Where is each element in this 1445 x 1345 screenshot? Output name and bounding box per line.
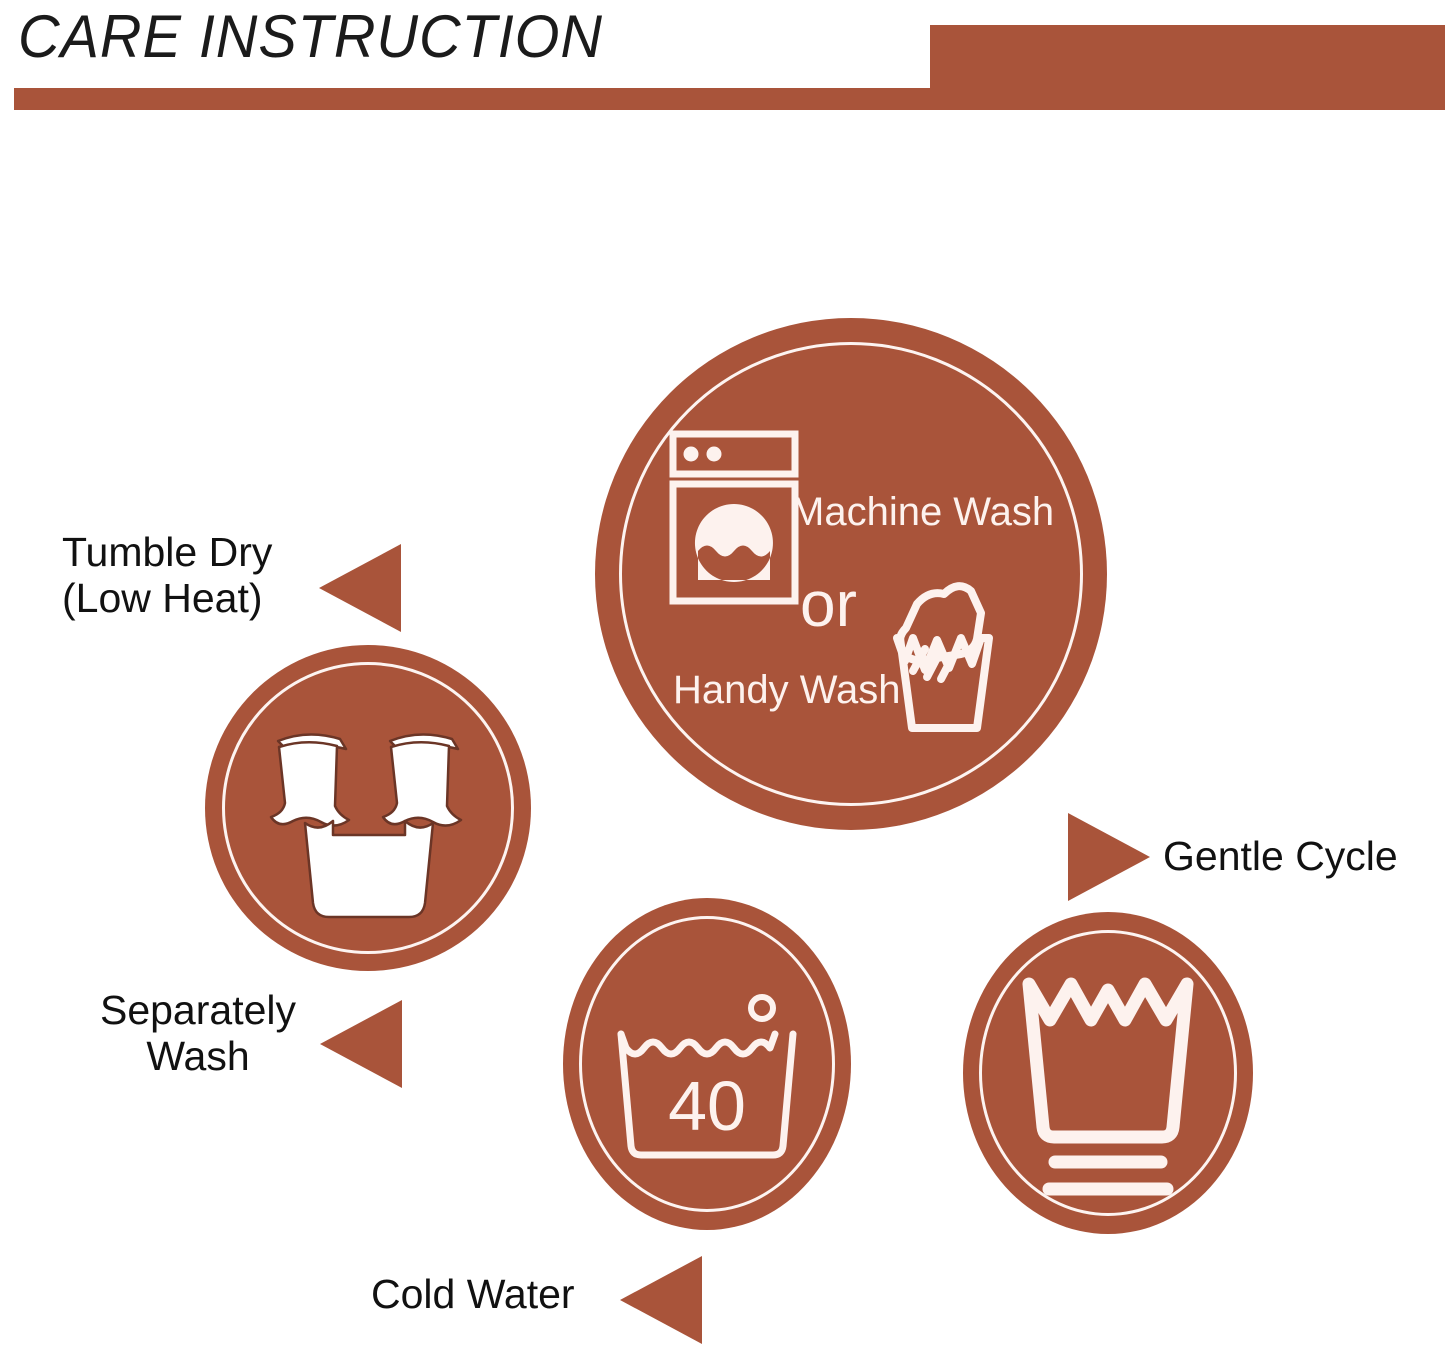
- badge-cold-water: 40: [563, 898, 851, 1230]
- badge-machine-or-handy-wash: Machine Wash or Handy Wash: [595, 318, 1107, 830]
- callout-label-separately-wash: Separately Wash: [78, 988, 318, 1080]
- washing-machine-dial-1: [684, 447, 699, 462]
- wash-tub-temperature-icon: 40: [563, 898, 851, 1230]
- page-title: CARE INSTRUCTION: [18, 2, 603, 71]
- arrow-left-icon-separately-wash: [320, 1000, 402, 1088]
- badge-tumble-dry: [205, 645, 531, 971]
- hand-wash-tub-icon: [897, 586, 989, 728]
- or-label: or: [800, 572, 857, 636]
- callout-label-gentle-cycle: Gentle Cycle: [1163, 834, 1398, 880]
- handy-wash-label: Handy Wash: [673, 670, 901, 710]
- header-accent-block: [930, 25, 1445, 110]
- arrow-left-icon-cold-water: [620, 1256, 702, 1344]
- badge-gentle-cycle: [963, 912, 1253, 1234]
- arrow-right-icon-gentle-cycle: [1068, 813, 1150, 901]
- washing-machine-drum: [695, 504, 773, 582]
- callout-label-tumble-dry: Tumble Dry (Low Heat): [62, 530, 272, 622]
- tumble-dry-icon: [205, 645, 531, 971]
- machine-wash-label: Machine Wash: [791, 492, 1054, 532]
- washing-machine-dial-2: [707, 447, 722, 462]
- gentle-cycle-tub-icon: [963, 912, 1253, 1234]
- arrow-left-icon-tumble-dry: [319, 544, 401, 632]
- care-instruction-infographic: CARE INSTRUCTION Machine Wash or Handy W…: [0, 0, 1445, 1345]
- wash-temperature-value: 40: [668, 1067, 746, 1145]
- callout-label-cold-water: Cold Water: [371, 1272, 575, 1318]
- degree-symbol-icon: [751, 997, 773, 1019]
